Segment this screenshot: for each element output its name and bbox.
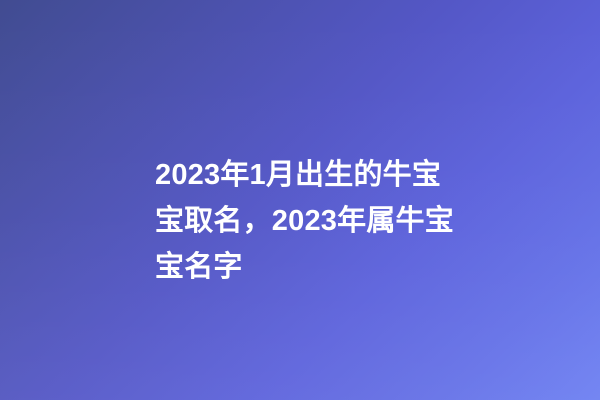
banner-headline: 2023年1月出生的牛宝宝取名，2023年属牛宝宝名字	[155, 152, 465, 290]
banner-card: 2023年1月出生的牛宝宝取名，2023年属牛宝宝名字	[0, 0, 600, 400]
